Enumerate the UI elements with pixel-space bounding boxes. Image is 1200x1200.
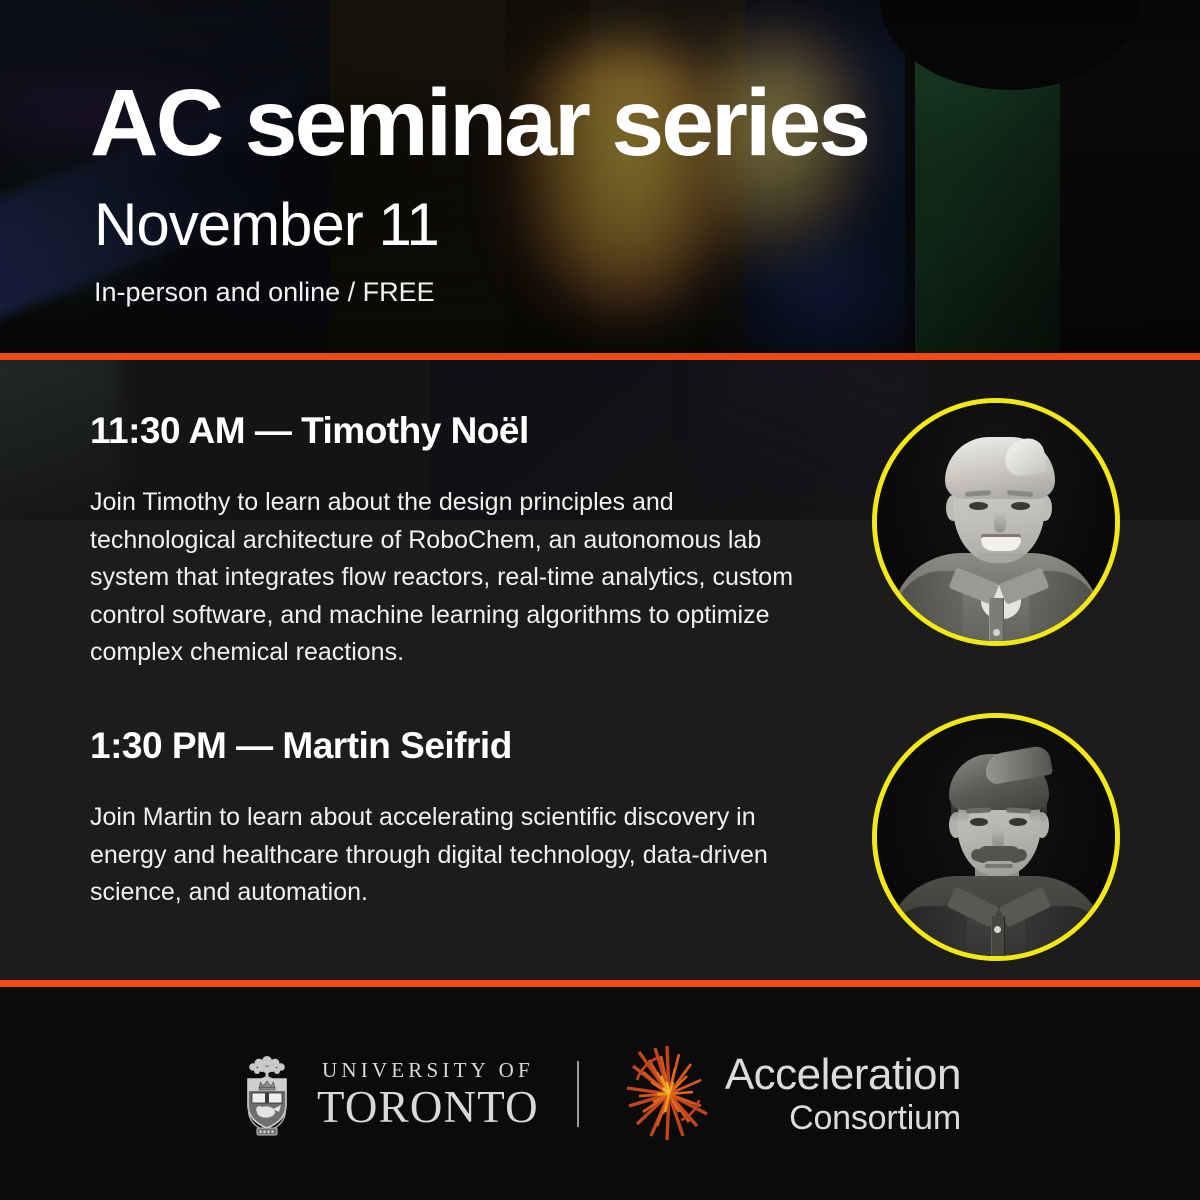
portrait-nose xyxy=(994,511,1006,533)
session-description: Join Timothy to learn about the design p… xyxy=(90,484,820,672)
sessions-list: 11:30 AM — Timothy Noël Join Timothy to … xyxy=(0,360,1200,980)
seminar-poster: AC seminar series November 11 In-person … xyxy=(0,0,1200,1200)
footer: UNIVERSITY OF TORONTO xyxy=(0,987,1200,1200)
portrait-eye-right xyxy=(1011,502,1030,510)
speaker-portrait-martin xyxy=(877,718,1115,956)
portrait-eye-left xyxy=(969,502,988,510)
avatar xyxy=(872,398,1120,646)
portrait-moustache xyxy=(977,846,1021,861)
page-title: AC seminar series xyxy=(90,76,868,171)
ac-wordmark: Acceleration Consortium xyxy=(725,1053,961,1135)
portrait-eye-right xyxy=(1009,818,1027,826)
starburst-icon xyxy=(617,1042,721,1146)
portrait-mouth xyxy=(985,864,1013,868)
uoft-wordmark: UNIVERSITY OF TORONTO xyxy=(317,1058,539,1130)
session-description: Join Martin to learn about accelerating … xyxy=(90,799,820,912)
uoft-line-toronto: TORONTO xyxy=(317,1085,539,1130)
speaker-portrait-timothy xyxy=(877,403,1115,641)
uoft-line-university-of: UNIVERSITY OF xyxy=(322,1058,534,1083)
portrait-eye-left xyxy=(970,818,988,826)
session-item: 11:30 AM — Timothy Noël Join Timothy to … xyxy=(90,410,1120,672)
university-of-toronto-logo: UNIVERSITY OF TORONTO xyxy=(239,1051,539,1137)
event-date: November 11 xyxy=(94,195,868,255)
hero-banner: AC seminar series November 11 In-person … xyxy=(0,0,1200,356)
avatar xyxy=(872,713,1120,961)
divider-bottom xyxy=(0,980,1200,987)
divider-top xyxy=(0,353,1200,360)
ac-line-consortium: Consortium xyxy=(789,1101,961,1135)
portrait-nose xyxy=(992,828,1004,848)
portrait-smile xyxy=(981,537,1021,551)
portrait-button xyxy=(993,629,1000,636)
portrait-placket xyxy=(991,916,1005,961)
logo-separator xyxy=(577,1061,579,1127)
uoft-crest-icon xyxy=(239,1051,295,1137)
session-item: 1:30 PM — Martin Seifrid Join Martin to … xyxy=(90,725,1120,912)
portrait-placket xyxy=(989,598,1004,646)
ac-line-acceleration: Acceleration xyxy=(725,1053,961,1097)
logo-row: UNIVERSITY OF TORONTO xyxy=(0,987,1200,1200)
hero-text-block: AC seminar series November 11 In-person … xyxy=(90,76,868,308)
sessions-section: 11:30 AM — Timothy Noël Join Timothy to … xyxy=(0,360,1200,980)
event-tagline: In-person and online / FREE xyxy=(94,277,868,308)
portrait-button-top xyxy=(994,926,1001,933)
acceleration-consortium-logo: Acceleration Consortium xyxy=(617,1042,961,1146)
